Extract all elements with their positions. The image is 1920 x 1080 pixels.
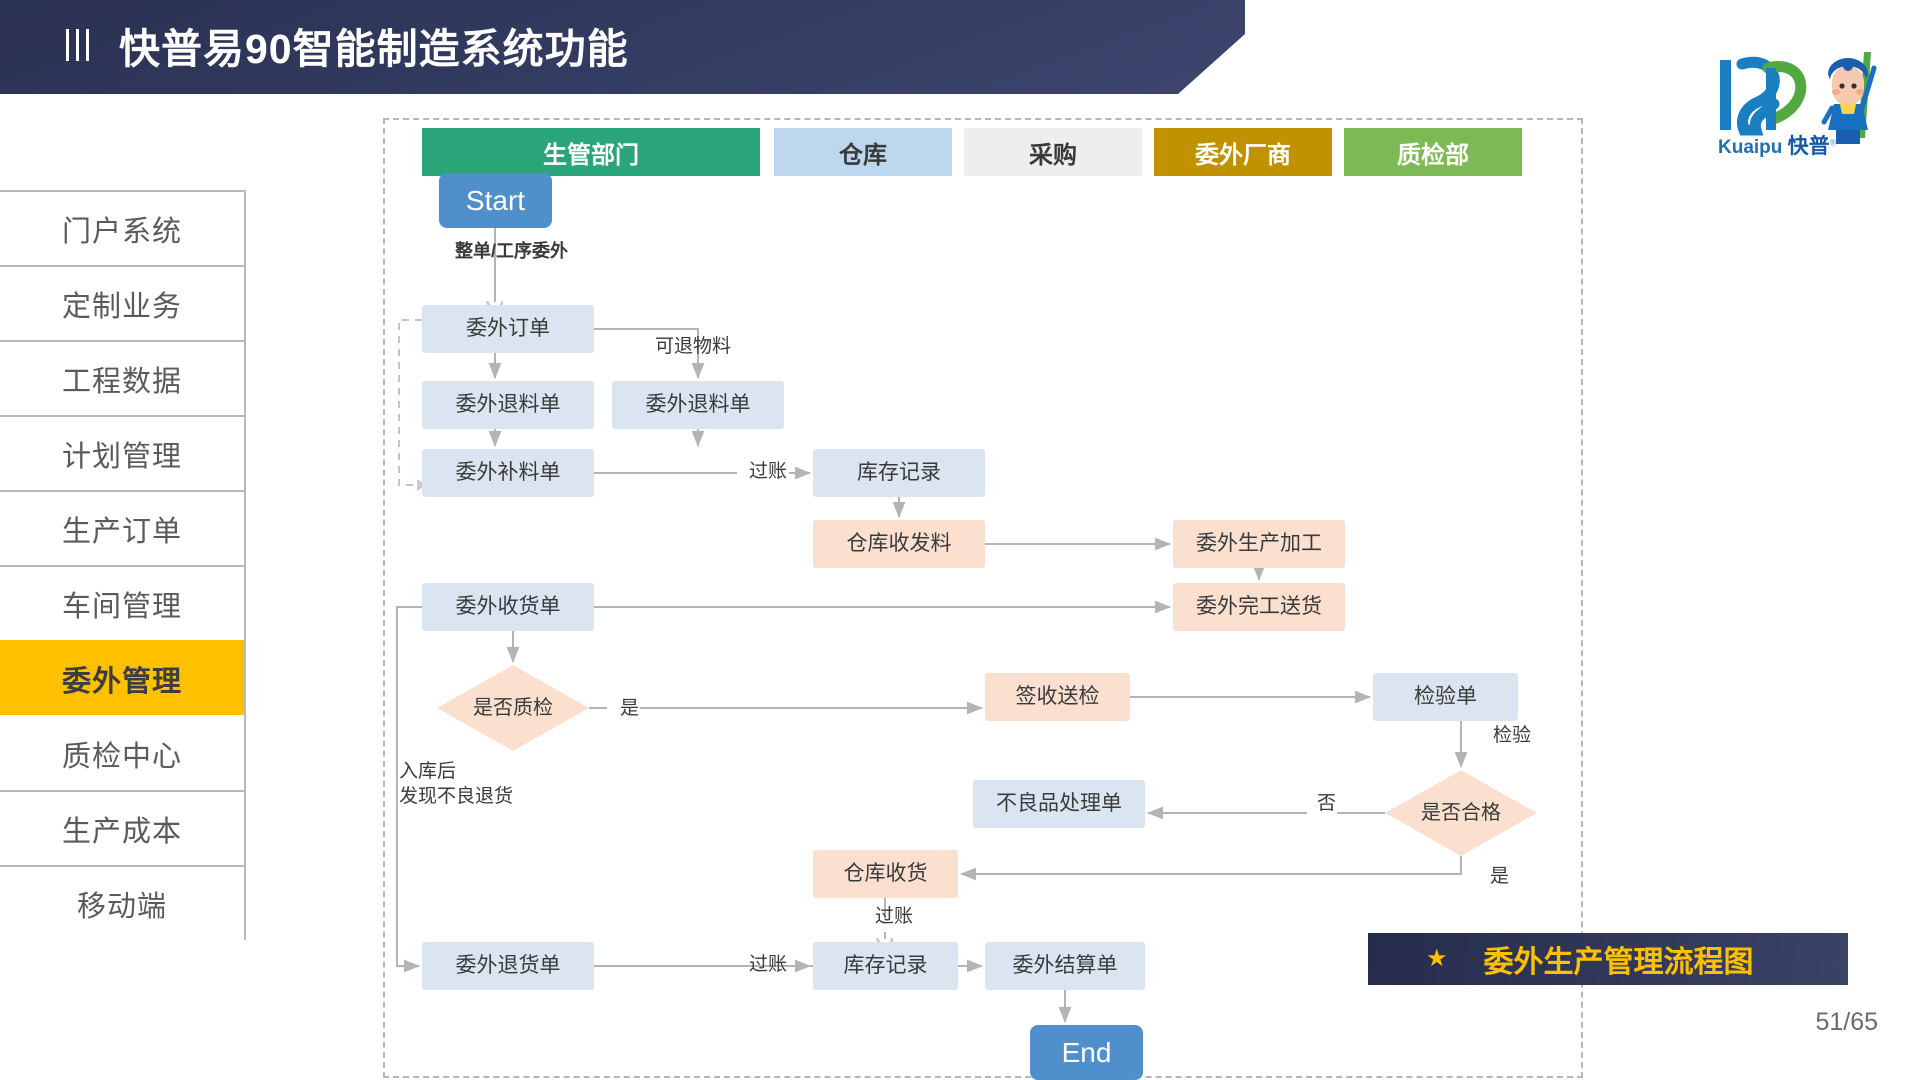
edge-label-1: 可退物料 <box>655 335 731 360</box>
page-number: 51/65 <box>1815 1008 1878 1037</box>
edge-label-9: 入库后 发现不良退货 <box>399 760 513 809</box>
edge-label-0: 整单/工序委外 <box>455 240 568 263</box>
sidebar-item-0[interactable]: 门户系统 <box>0 190 244 265</box>
app-header: 快普易90智能制造系统功能 <box>0 0 1245 94</box>
flow-node-start[interactable]: Start <box>439 173 552 228</box>
header-underline <box>0 94 1178 103</box>
lane-header-2: 采购 <box>964 128 1142 176</box>
sidebar-item-8[interactable]: 生产成本 <box>0 790 244 865</box>
edge-label-6: 是 <box>1490 865 1509 890</box>
lane-header-4: 质检部 <box>1344 128 1522 176</box>
flow-node-defect[interactable]: 不良品处理单 <box>973 780 1145 828</box>
edge-label-5: 否 <box>1317 792 1336 817</box>
sidebar-nav[interactable]: 门户系统定制业务工程数据计划管理生产订单车间管理委外管理质检中心生产成本移动端 <box>0 190 246 940</box>
flow-node-whio[interactable]: 仓库收发料 <box>813 520 985 568</box>
flow-node-inv2[interactable]: 库存记录 <box>813 942 958 990</box>
flow-node-recv[interactable]: 委外收货单 <box>422 583 594 631</box>
lane-header-0: 生管部门 <box>422 128 760 176</box>
flow-node-ret[interactable]: 委外退货单 <box>422 942 594 990</box>
lane-header-1: 仓库 <box>774 128 952 176</box>
sidebar-item-1[interactable]: 定制业务 <box>0 265 244 340</box>
edge-label-7: 过账 <box>875 905 913 930</box>
sidebar-item-3[interactable]: 计划管理 <box>0 415 244 490</box>
caption-banner: ★ 委外生产管理流程图 <box>1368 933 1848 985</box>
sidebar-item-4[interactable]: 生产订单 <box>0 490 244 565</box>
sidebar-item-6[interactable]: 委外管理 <box>0 640 244 715</box>
flow-node-n3[interactable]: 委外补料单 <box>422 449 594 497</box>
edge-label-3: 是 <box>620 697 639 722</box>
brand-logo: Kuaipu 快普® <box>1714 46 1904 162</box>
flow-node-n2[interactable]: 委外退料单 <box>422 381 594 429</box>
edge-label-8: 过账 <box>749 953 787 978</box>
star-icon: ★ <box>1426 947 1448 971</box>
flow-node-insp[interactable]: 检验单 <box>1373 673 1518 721</box>
logo-brand-en: Kuaipu <box>1718 137 1782 158</box>
flow-node-n2b[interactable]: 委外退料单 <box>612 381 784 429</box>
logo-wordmark: Kuaipu 快普® <box>1718 130 1836 160</box>
sidebar-item-5[interactable]: 车间管理 <box>0 565 244 640</box>
sidebar-item-9[interactable]: 移动端 <box>0 865 244 940</box>
caption-text: 委外生产管理流程图 <box>1484 937 1754 981</box>
lane-header-3: 委外厂商 <box>1154 128 1332 176</box>
page-title: 快普易90智能制造系统功能 <box>119 15 629 75</box>
flow-node-proc[interactable]: 委外生产加工 <box>1173 520 1345 568</box>
flow-node-inv1[interactable]: 库存记录 <box>813 449 985 497</box>
sidebar-item-7[interactable]: 质检中心 <box>0 715 244 790</box>
flow-node-n1[interactable]: 委外订单 <box>422 305 594 353</box>
flow-node-sign[interactable]: 签收送检 <box>985 673 1130 721</box>
flow-node-deliv[interactable]: 委外完工送货 <box>1173 583 1345 631</box>
flow-node-settle[interactable]: 委外结算单 <box>985 942 1145 990</box>
flow-node-whrecv[interactable]: 仓库收货 <box>813 850 958 898</box>
logo-brand-cn: 快普 <box>1788 135 1830 158</box>
logo-trademark: ® <box>1830 138 1837 148</box>
flow-node-end[interactable]: End <box>1030 1025 1143 1080</box>
three-bars-icon <box>66 29 89 61</box>
edge-label-4: 检验 <box>1493 724 1531 749</box>
sidebar-item-2[interactable]: 工程数据 <box>0 340 244 415</box>
edge-label-2: 过账 <box>749 460 787 485</box>
